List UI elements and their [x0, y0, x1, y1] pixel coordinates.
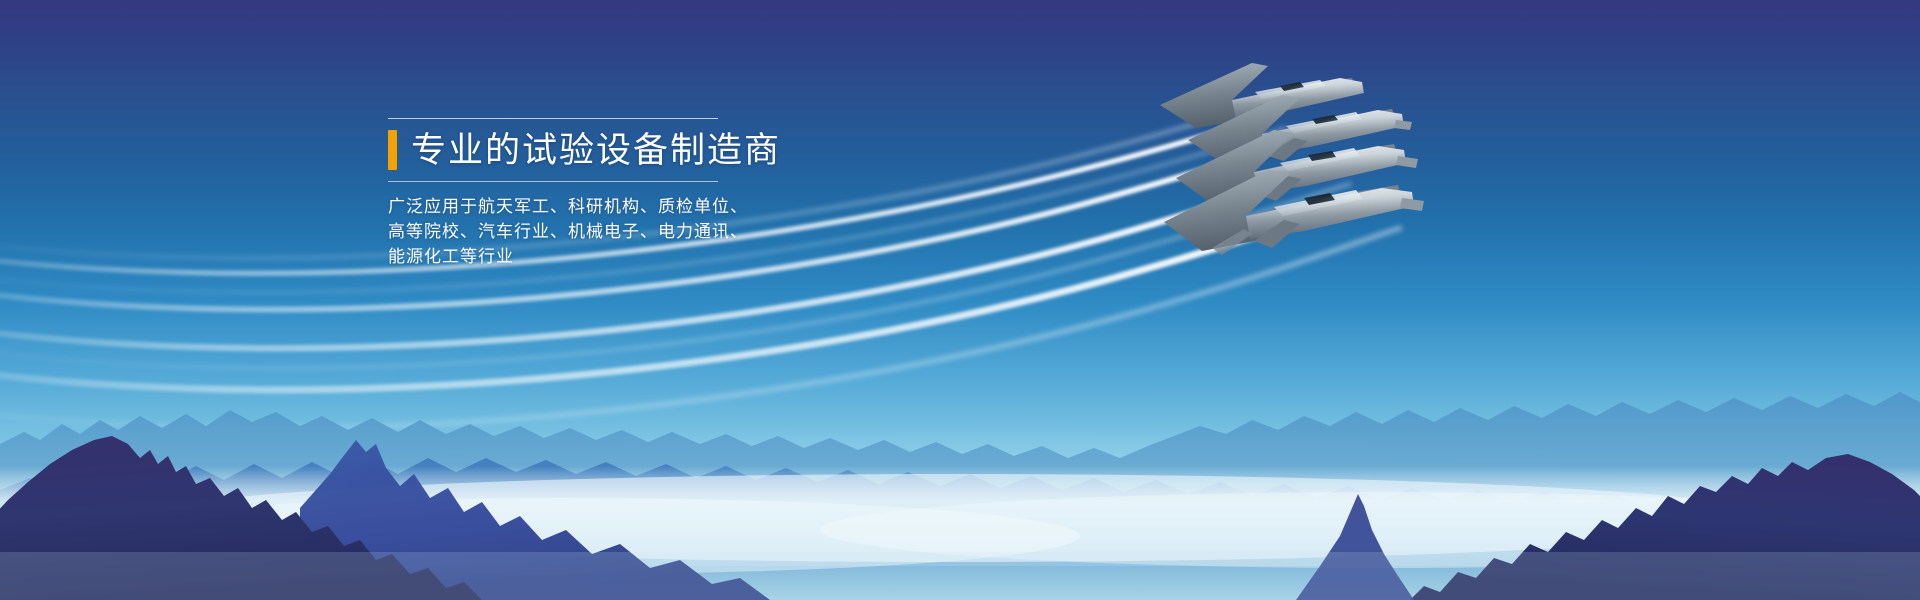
- sky-gradient-background: [0, 0, 1920, 600]
- subtitle-line-1: 广泛应用于航天军工、科研机构、质检单位、: [388, 194, 818, 219]
- hero-banner: 专业的试验设备制造商 广泛应用于航天军工、科研机构、质检单位、 高等院校、汽车行…: [0, 0, 1920, 600]
- subtitle-line-2: 高等院校、汽车行业、机械电子、电力通讯、: [388, 219, 818, 244]
- orange-accent-bar: [388, 130, 397, 170]
- banner-copy: 专业的试验设备制造商 广泛应用于航天军工、科研机构、质检单位、 高等院校、汽车行…: [388, 118, 818, 269]
- subtitle-line-3: 能源化工等行业: [388, 244, 818, 269]
- horizontal-rule-bottom: [388, 181, 718, 182]
- banner-subtitle: 广泛应用于航天军工、科研机构、质检单位、 高等院校、汽车行业、机械电子、电力通讯…: [388, 194, 818, 269]
- headline-row: 专业的试验设备制造商: [388, 119, 818, 181]
- page-title: 专业的试验设备制造商: [411, 133, 781, 168]
